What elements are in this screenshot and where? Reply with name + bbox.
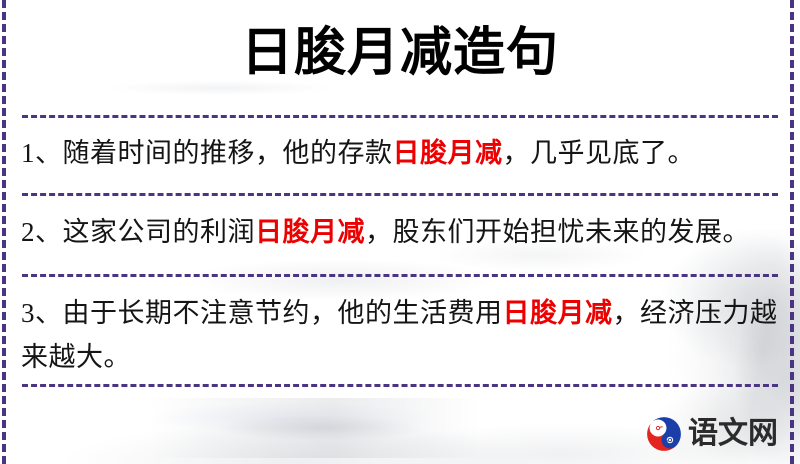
divider-3 (22, 274, 778, 277)
sentence-item-1: 1、随着时间的推移，他的存款日朘月减，几乎见底了。 (21, 131, 781, 175)
sentence-text-before-2: 这家公司的利润 (63, 217, 256, 247)
yin-yang-fish-icon (646, 416, 682, 452)
document-page: 日朘月减造句 1、随着时间的推移，他的存款日朘月减，几乎见底了。 2、这家公司的… (0, 0, 800, 464)
sentence-text-after-2: ，股东们开始担忧未来的发展。 (365, 217, 750, 247)
site-logo: 语文网 (646, 416, 778, 452)
sentence-text-before-1: 随着时间的推移，他的存款 (63, 138, 393, 168)
sentence-number-3: 3、 (21, 298, 63, 328)
idiom-highlight-3: 日朘月减 (503, 298, 613, 328)
divider-4 (22, 384, 778, 387)
sentence-number-1: 1、 (21, 138, 63, 168)
divider-2 (22, 193, 778, 196)
sentence-text-after-1: ，几乎见底了。 (503, 138, 696, 168)
idiom-highlight-1: 日朘月减 (393, 138, 503, 168)
document-content: 日朘月减造句 1、随着时间的推移，他的存款日朘月减，几乎见底了。 2、这家公司的… (0, 0, 800, 464)
idiom-highlight-2: 日朘月减 (255, 217, 365, 247)
site-logo-text: 语文网 (688, 418, 778, 450)
sentence-text-before-3: 由于长期不注意节约，他的生活费用 (63, 298, 503, 328)
sentence-number-2: 2、 (21, 217, 63, 247)
divider-1 (22, 115, 778, 118)
sentence-item-2: 2、这家公司的利润日朘月减，股东们开始担忧未来的发展。 (21, 210, 781, 254)
page-title: 日朘月减造句 (0, 22, 800, 86)
sentence-item-3: 3、由于长期不注意节约，他的生活费用日朘月减，经济压力越来越大。 (21, 291, 781, 379)
